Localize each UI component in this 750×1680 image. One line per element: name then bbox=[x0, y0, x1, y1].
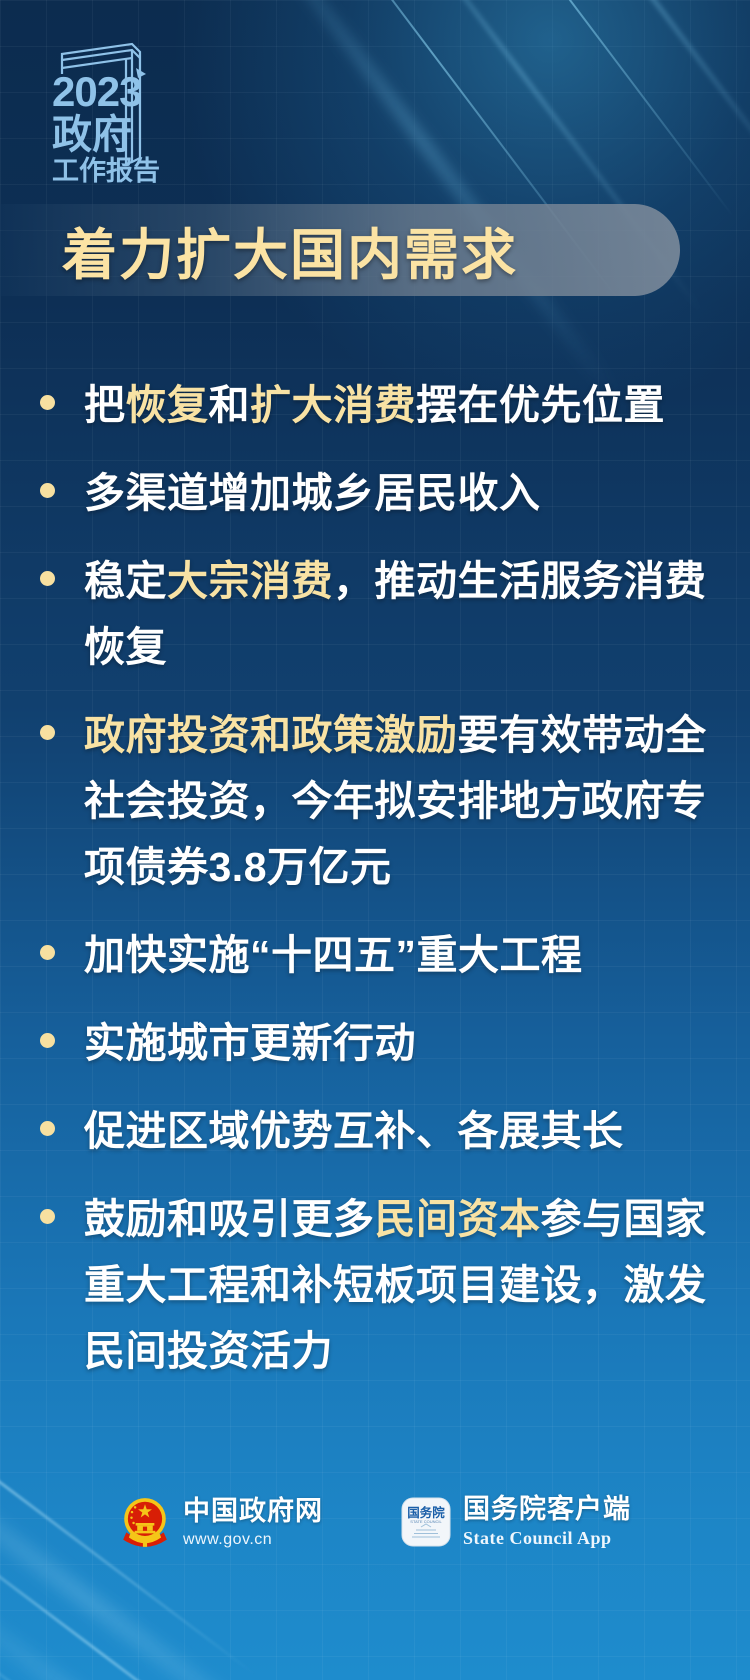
list-item-text: 把恢复和扩大消费摆在优先位置 bbox=[84, 372, 718, 438]
list-item: 稳定大宗消费，推动生活服务消费恢复 bbox=[32, 548, 718, 680]
list-item-text: 政府投资和政策激励要有效带动全社会投资，今年拟安排地方政府专项债券3.8万亿元 bbox=[84, 702, 718, 900]
plain-phrase: 加快实施“十四五”重大工程 bbox=[84, 932, 583, 978]
svg-text:国务院: 国务院 bbox=[407, 1505, 445, 1520]
bullet-dot-icon bbox=[40, 483, 55, 498]
svg-text:STATE COUNCIL: STATE COUNCIL bbox=[410, 1519, 442, 1524]
plain-phrase: 实施城市更新行动 bbox=[84, 1020, 416, 1066]
plain-phrase: 多渠道增加城乡居民收入 bbox=[84, 470, 541, 516]
state-council-brand-name: 国务院客户端 bbox=[463, 1496, 631, 1523]
list-item: 实施城市更新行动 bbox=[32, 1010, 718, 1076]
bullet-dot-icon bbox=[40, 725, 55, 740]
state-council-brand-english: State Council App bbox=[463, 1529, 631, 1547]
bullet-dot-icon bbox=[40, 1209, 55, 1224]
bullet-dot-icon bbox=[40, 571, 55, 586]
state-council-app-icon: 国务院 STATE COUNCIL bbox=[401, 1497, 451, 1547]
poster-root: 2023 政府 工作报告 着力扩大国内需求 把恢复和扩大消费摆在优先位置多渠道增… bbox=[0, 0, 750, 1680]
plain-phrase: 鼓励和吸引更多 bbox=[84, 1196, 375, 1242]
list-item: 加快实施“十四五”重大工程 bbox=[32, 922, 718, 988]
list-item: 促进区域优势互补、各展其长 bbox=[32, 1098, 718, 1164]
svg-text:2023: 2023 bbox=[52, 68, 141, 115]
page-title: 着力扩大国内需求 bbox=[62, 210, 518, 290]
svg-text:政府: 政府 bbox=[52, 113, 132, 157]
gov-brand-url: www.gov.cn bbox=[183, 1532, 323, 1548]
plain-phrase: 促进区域优势互补、各展其长 bbox=[84, 1108, 624, 1154]
list-item-text: 实施城市更新行动 bbox=[84, 1010, 718, 1076]
bullet-list: 把恢复和扩大消费摆在优先位置多渠道增加城乡居民收入稳定大宗消费，推动生活服务消费… bbox=[32, 372, 718, 1406]
bullet-dot-icon bbox=[40, 1033, 55, 1048]
highlighted-phrase: 政府投资和政策激励 bbox=[84, 712, 458, 758]
list-item: 多渠道增加城乡居民收入 bbox=[32, 460, 718, 526]
bullet-dot-icon bbox=[40, 945, 55, 960]
book-icon: 2023 政府 工作报告 bbox=[40, 38, 170, 183]
list-item-text: 促进区域优势互补、各展其长 bbox=[84, 1098, 718, 1164]
title-banner: 着力扩大国内需求 bbox=[0, 204, 680, 296]
plain-phrase: 和 bbox=[209, 382, 251, 428]
list-item: 鼓励和吸引更多民间资本参与国家重大工程和补短板项目建设，激发民间投资活力 bbox=[32, 1186, 718, 1384]
list-item: 把恢复和扩大消费摆在优先位置 bbox=[32, 372, 718, 438]
gov-brand[interactable]: 中国政府网 www.gov.cn bbox=[119, 1496, 323, 1550]
bullet-dot-icon bbox=[40, 395, 55, 410]
footer: 中国政府网 www.gov.cn 国务院 STATE COUNCIL 国务院客户… bbox=[0, 1496, 750, 1550]
list-item-text: 稳定大宗消费，推动生活服务消费恢复 bbox=[84, 548, 718, 680]
list-item-text: 鼓励和吸引更多民间资本参与国家重大工程和补短板项目建设，激发民间投资活力 bbox=[84, 1186, 718, 1384]
national-emblem-icon bbox=[119, 1496, 171, 1550]
plain-phrase: 把 bbox=[84, 382, 126, 428]
gov-brand-name: 中国政府网 bbox=[183, 1498, 323, 1525]
masthead-logo: 2023 政府 工作报告 bbox=[40, 38, 170, 178]
list-item: 政府投资和政策激励要有效带动全社会投资，今年拟安排地方政府专项债券3.8万亿元 bbox=[32, 702, 718, 900]
list-item-text: 多渠道增加城乡居民收入 bbox=[84, 460, 718, 526]
svg-text:工作报告: 工作报告 bbox=[52, 156, 160, 183]
highlighted-phrase: 大宗消费 bbox=[167, 558, 333, 604]
highlighted-phrase: 恢复 bbox=[126, 382, 209, 428]
state-council-brand[interactable]: 国务院 STATE COUNCIL 国务院客户端 State Council A… bbox=[401, 1496, 631, 1547]
highlighted-phrase: 民间资本 bbox=[375, 1196, 541, 1242]
list-item-text: 加快实施“十四五”重大工程 bbox=[84, 922, 718, 988]
plain-phrase: 摆在优先位置 bbox=[416, 382, 665, 428]
highlighted-phrase: 扩大消费 bbox=[250, 382, 416, 428]
plain-phrase: 稳定 bbox=[84, 558, 167, 604]
bullet-dot-icon bbox=[40, 1121, 55, 1136]
